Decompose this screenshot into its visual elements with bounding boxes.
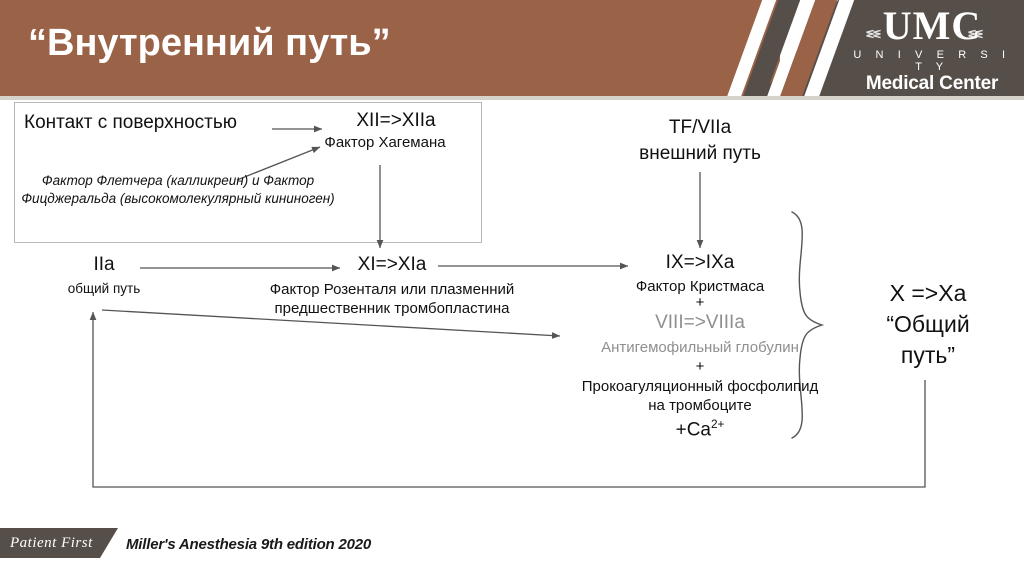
logo-acronym-text: UMC <box>883 3 982 48</box>
plus-sign-2: + <box>696 358 705 375</box>
common-pathway-sublabel: общий путь <box>68 281 140 296</box>
extrinsic-pathway-sublabel: внешний путь <box>639 143 761 165</box>
common-pathway-quote-line2: путь” <box>901 342 955 369</box>
rosenthal-factor-line1: Фактор Розенталя или плазменний <box>270 281 515 298</box>
procoagulant-phospholipid-line2: на тромбоците <box>648 397 751 414</box>
calcium-superscript: 2+ <box>711 418 724 431</box>
christmas-factor-label: Фактор Кристмаса <box>636 278 764 295</box>
factor-viii-label: VIII=>VIIIa <box>655 312 745 334</box>
umc-logo: ᓬᓬ UMC ᓬᓬ U N I V E R S I T Y Medical Ce… <box>852 6 1012 90</box>
header-divider <box>0 96 1024 100</box>
source-citation: Miller's Anesthesia 9th edition 2020 <box>126 536 371 553</box>
factor-xi-label: XI=>XIa <box>358 254 427 276</box>
hageman-factor-label: Фактор Хагемана <box>324 134 445 151</box>
factor-iia-label: IIa <box>93 254 114 276</box>
calcium-label: +Ca2+ <box>676 418 725 441</box>
rosenthal-factor-line2: предшественник тромбопластина <box>274 300 509 317</box>
plus-sign-1: + <box>696 294 705 311</box>
logo-acronym: ᓬᓬ UMC ᓬᓬ <box>852 6 1012 46</box>
logo-ornament-left-icon: ᓬᓬ <box>866 15 880 55</box>
patient-first-label: Patient First <box>10 530 115 556</box>
logo-ornament-right-icon: ᓬᓬ <box>968 15 982 55</box>
page-title: “Внутренний путь” <box>28 12 668 74</box>
calcium-text: +Ca <box>676 419 711 440</box>
slide: ᓬᓬ UMC ᓬᓬ U N I V E R S I T Y Medical Ce… <box>0 0 1024 576</box>
factor-ix-label: IX=>IXa <box>666 252 735 274</box>
common-pathway-quote-line1: “Общий <box>886 311 969 338</box>
factor-x-label: X =>Xa <box>890 280 967 307</box>
procoagulant-phospholipid-line1: Прокоагуляционный фосфолипид <box>582 378 819 395</box>
factor-xii-label: XII=>XIIa <box>356 110 435 132</box>
contact-surface-label: Контакт с поверхностью <box>24 112 237 134</box>
logo-medical-center-text: Medical Center <box>852 74 1012 94</box>
tf-viia-label: TF/VIIa <box>669 117 731 139</box>
antihemophilic-globulin-label: Антигемофильный глобулин <box>601 339 799 356</box>
fletcher-fitzgerald-note: Фактор Флетчера (калликреин) и Фактор Фи… <box>13 172 343 208</box>
